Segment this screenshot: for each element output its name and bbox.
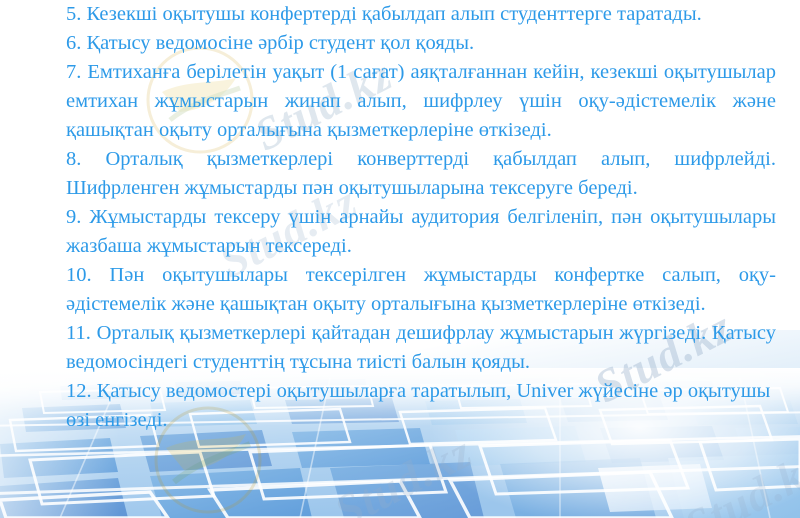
stud-kz-watermark: Stud.kz <box>676 440 800 518</box>
list-item: 6. Қатысу ведомосіне әрбір студент қол қ… <box>66 29 776 58</box>
list-item: 12. Қатысу ведомостері оқытушыларға тара… <box>66 377 776 435</box>
document-page: Stud.kz Stud.kz Stud.kz Stud.kz Stud.kz … <box>0 0 800 518</box>
list-item: 5. Кезекші оқытушы конфертерді қабылдап … <box>66 0 776 29</box>
list-item: 10. Пән оқытушылары тексерілген жұмыстар… <box>66 261 776 319</box>
stud-kz-watermark: Stud.kz <box>326 425 480 518</box>
list-item: 9. Жұмыстарды тексеру үшін арнайы аудито… <box>66 203 776 261</box>
list-item: 11. Орталық қызметкерлері қайтадан дешиф… <box>66 319 776 377</box>
list-item: 8. Орталық қызметкерлері конверттерді қа… <box>66 145 776 203</box>
list-item: 7. Емтиханға берілетін уақыт (1 сағат) а… <box>66 58 776 145</box>
document-text-body: 5. Кезекші оқытушы конфертерді қабылдап … <box>66 0 776 435</box>
